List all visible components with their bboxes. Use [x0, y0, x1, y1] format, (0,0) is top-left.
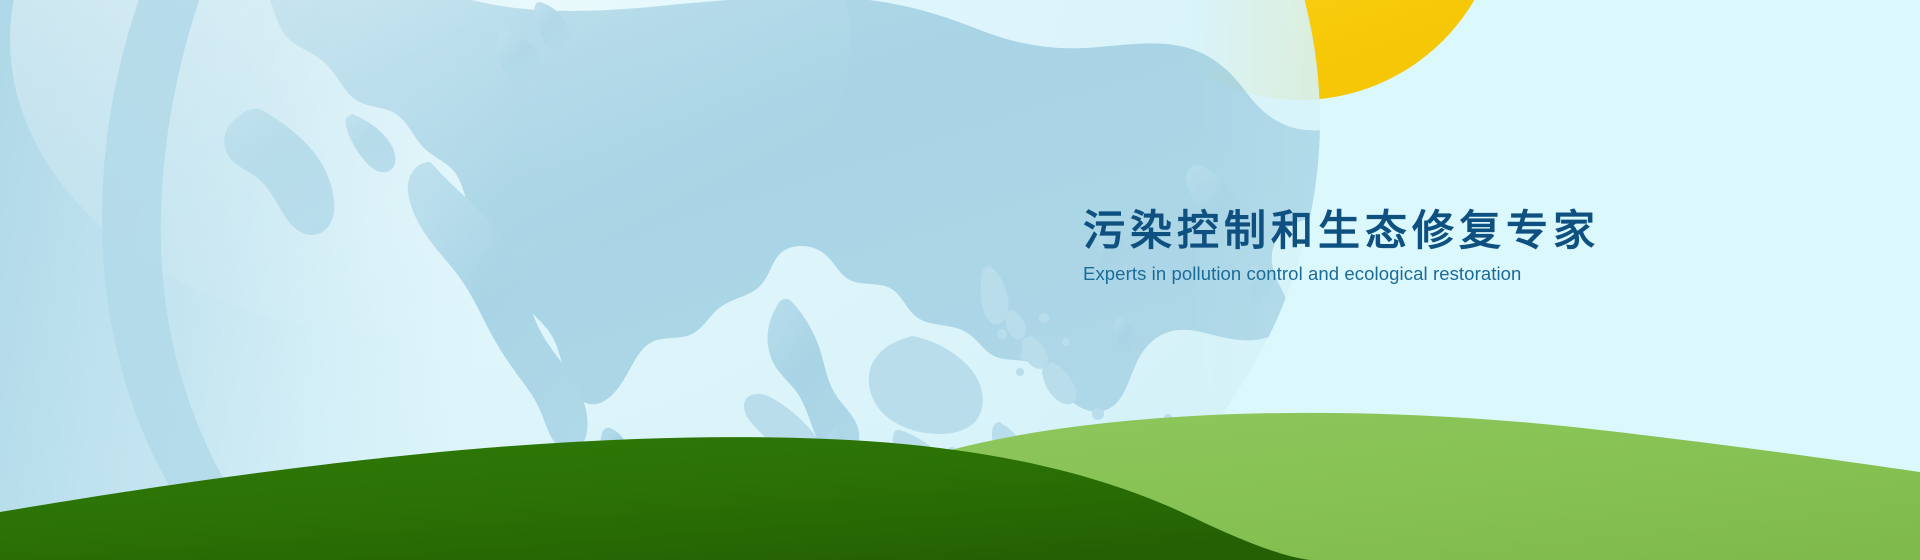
headline-group: 污染控制和生态修复专家 Experts in pollution control… [1083, 208, 1643, 285]
headline-chinese: 污染控制和生态修复专家 [1083, 208, 1643, 254]
headline-english: Experts in pollution control and ecologi… [1083, 263, 1643, 285]
hero-banner: 污染控制和生态修复专家 Experts in pollution control… [0, 0, 1920, 560]
